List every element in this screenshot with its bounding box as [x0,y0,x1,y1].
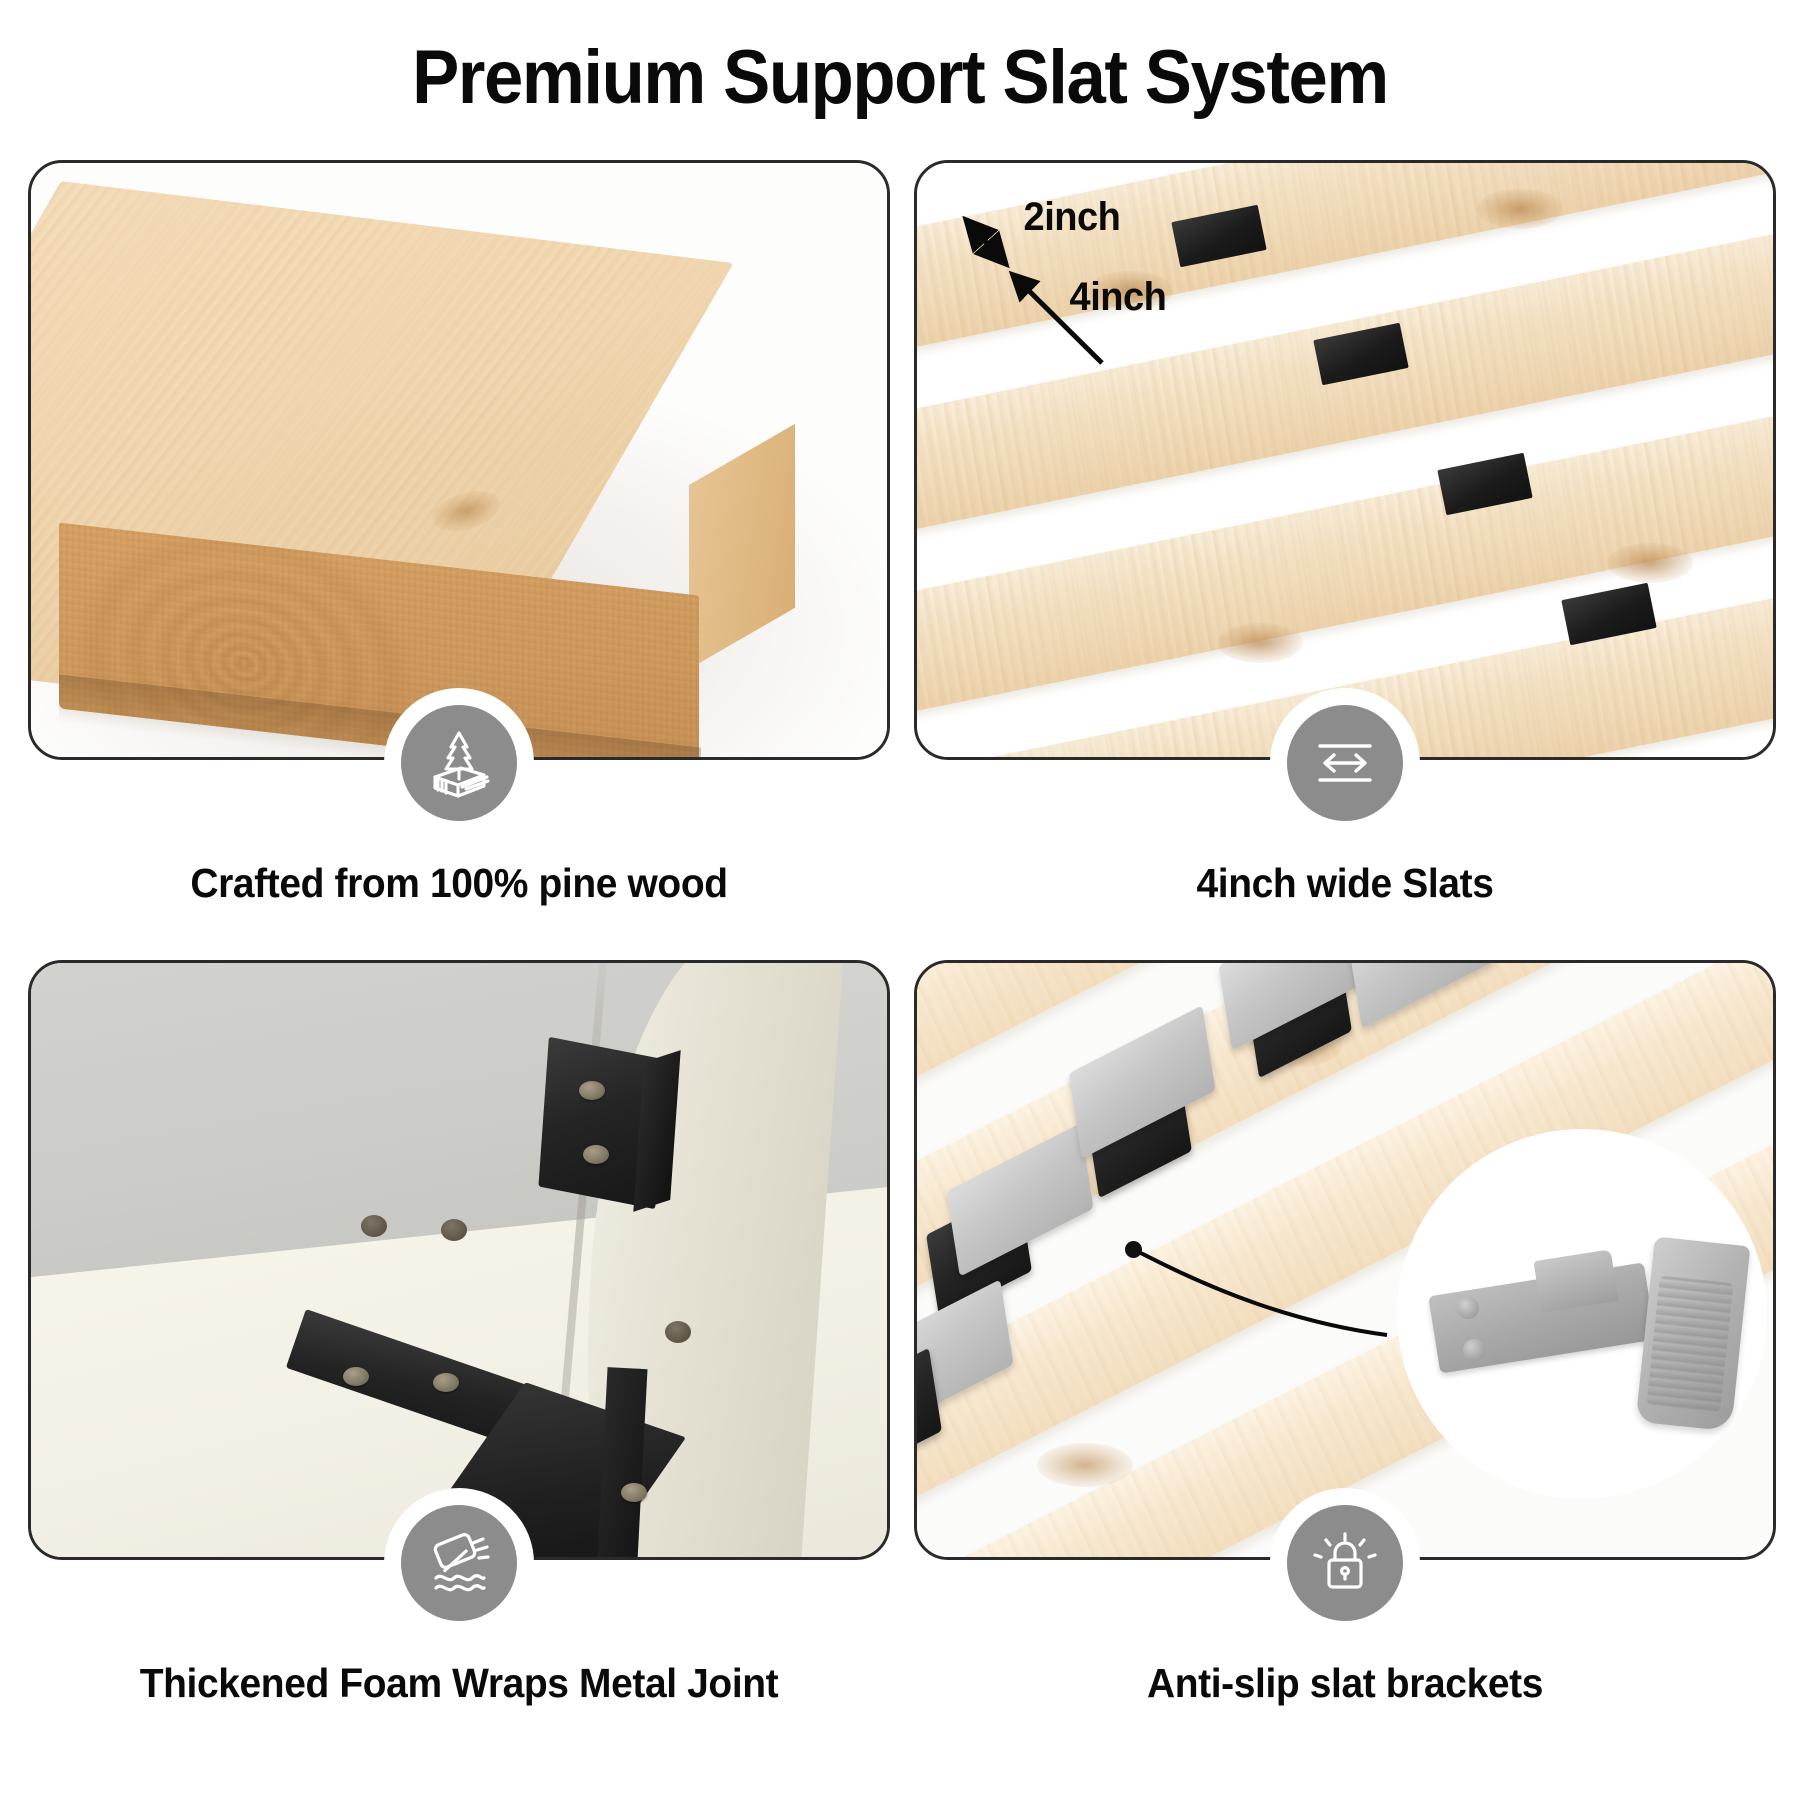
bracket-stud [1457,1297,1479,1319]
callout-anchor-dot [1125,1241,1142,1258]
feature-icon-badge-slat-width [1270,688,1420,838]
feature-caption-pine-wood: Crafted from 100% pine wood [50,860,869,907]
lock-icon [1287,1505,1403,1621]
feature-caption-anti-slip-brackets: Anti-slip slat brackets [936,1660,1755,1707]
feature-caption-slat-width: 4inch wide Slats [936,860,1755,907]
upholstery-stud [361,1215,387,1237]
feature-caption-foam-metal-joint: Thickened Foam Wraps Metal Joint [50,1660,869,1707]
upholstery-stud [441,1219,467,1241]
wood-knot [1037,1443,1133,1487]
photo-anti-slip-brackets [914,960,1776,1560]
photo-slats: 2inch 4inch [914,160,1776,760]
feature-grid: Crafted from 100% pine wood [0,160,1800,1800]
dimension-label-width: 4inch [1070,275,1167,320]
bracket-screw [579,1081,605,1100]
feature-card-anti-slip-brackets: Anti-slip slat brackets [914,960,1776,1750]
feature-card-pine-wood: Crafted from 100% pine wood [28,160,890,950]
inset-detail-bracket-parts [1397,1129,1767,1499]
bracket-screw [433,1373,459,1392]
dimension-label-gap: 2inch [1024,195,1121,240]
bracket-screw [583,1145,609,1164]
feature-icon-badge-foam-metal-joint [384,1488,534,1638]
foam-cushion-icon [401,1505,517,1621]
page-title: Premium Support Slat System [63,34,1737,121]
width-arrows-icon [1287,705,1403,821]
bracket-stud [1463,1339,1485,1361]
photo-foam-joint [28,960,890,1560]
bracket-screw [621,1483,647,1502]
feature-card-foam-metal-joint: Thickened Foam Wraps Metal Joint [28,960,890,1750]
photo-pine-board [28,160,890,760]
bracket-grip-ribs [1646,1275,1733,1412]
upholstery-stud [665,1321,691,1343]
feature-icon-badge-anti-slip-brackets [1270,1488,1420,1638]
feature-card-slat-width: 2inch 4inch 4inch wide Slats [914,160,1776,950]
dimension-arrows [917,163,1776,760]
pine-lumber-icon [401,705,517,821]
feature-icon-badge-pine-wood [384,688,534,838]
infographic-page: Premium Support Slat System [0,0,1800,1800]
bracket-screw [343,1367,369,1386]
